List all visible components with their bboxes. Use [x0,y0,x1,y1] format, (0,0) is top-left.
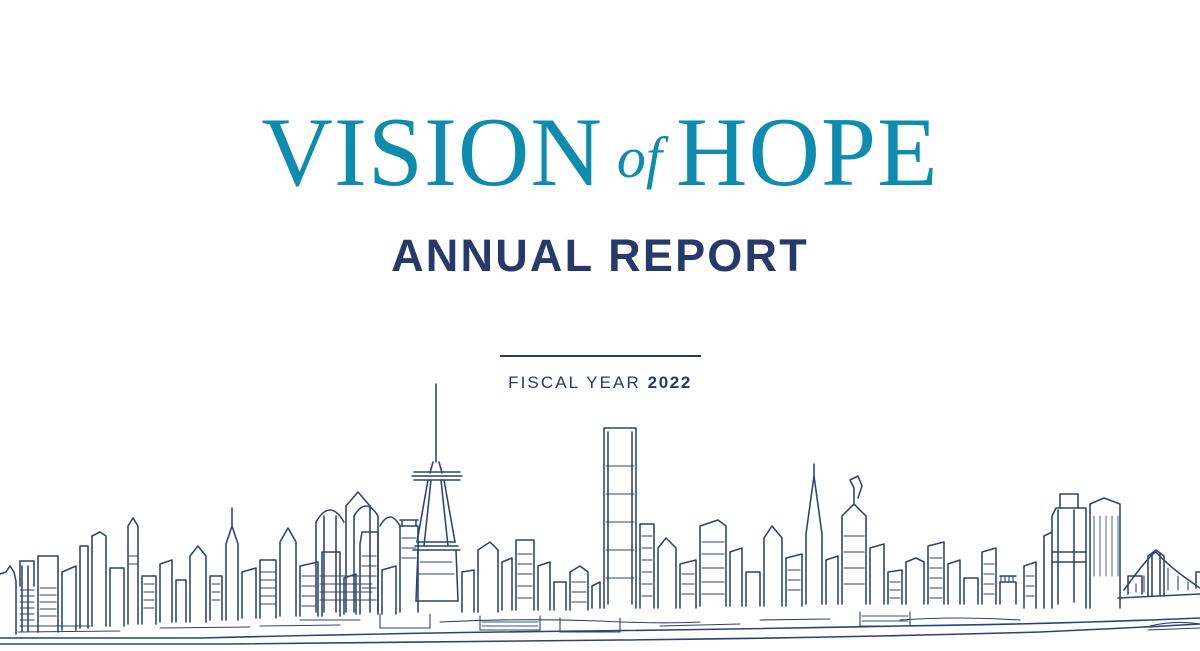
skyline-left-cluster [0,518,186,634]
waterfront-piers [380,612,910,632]
page-title: VISIONofHOPE [0,103,1200,202]
page-subtitle: ANNUAL REPORT [0,233,1200,278]
skyline-domed-buildings [316,492,418,612]
fiscal-year-value: 2022 [648,373,692,392]
brooklyn-bridge [1118,550,1200,598]
report-cover-page: VISIONofHOPE ANNUAL REPORT FISCAL YEAR 2… [0,0,1200,651]
skyline-left-mid-cluster [190,508,396,622]
waterfront-base [0,618,1200,644]
skyline-illustration [0,376,1200,651]
fiscal-year-divider [500,355,701,357]
skyline-downtown-tower [592,428,654,608]
skyline-mid-cluster [658,520,802,608]
skyline-mid-left-cluster [462,540,588,612]
skyline-right-tower-block [1024,494,1120,608]
title-connector-of: of [603,125,676,190]
title-word-hope: HOPE [676,98,939,207]
skyline-right-mid-cluster [806,464,944,604]
one-world-trade-center [412,384,462,601]
fiscal-year-label: FISCAL YEAR [508,373,641,392]
title-word-vision: VISION [261,98,602,207]
fiscal-year-block: FISCAL YEAR 2022 [0,355,1200,391]
skyline-right-cluster [948,548,1016,604]
fiscal-year-text: FISCAL YEAR 2022 [0,374,1200,391]
